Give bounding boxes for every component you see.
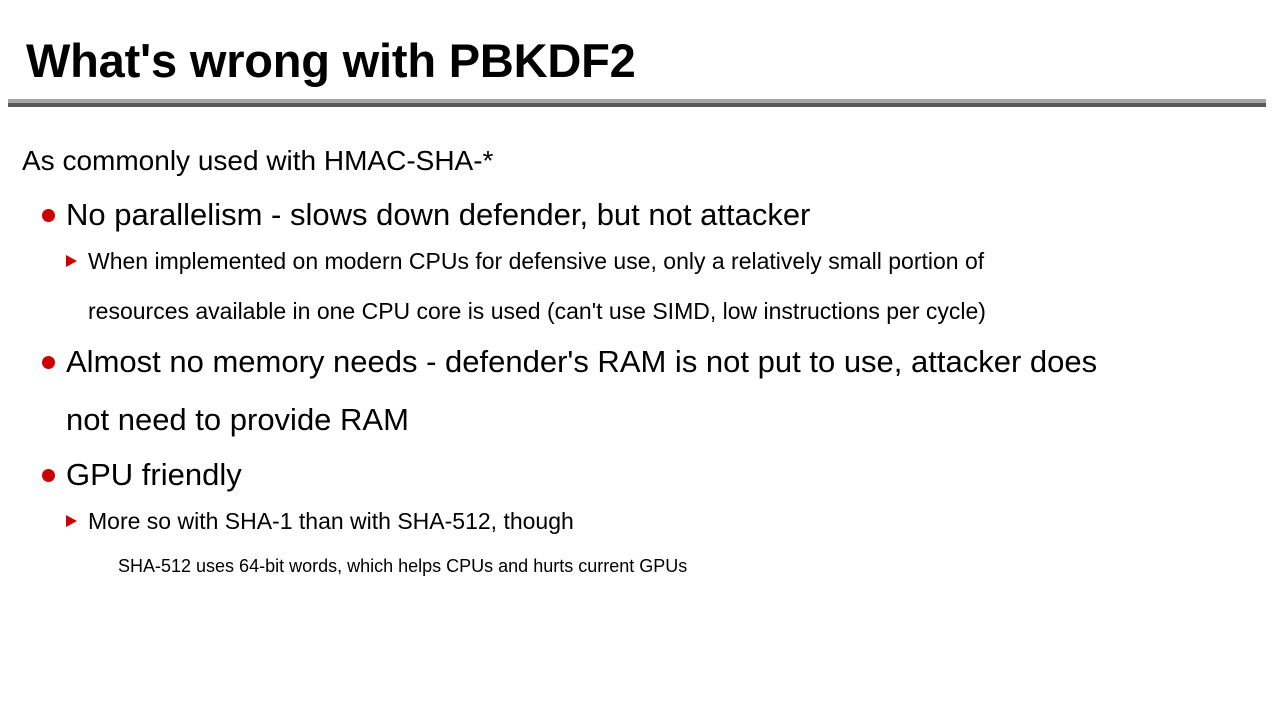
disc-bullet-icon [42,356,55,369]
sub-bullet-cpu-resources-line1: When implemented on modern CPUs for defe… [88,248,984,274]
title-divider [8,99,1266,107]
slide-title-area: What's wrong with PBKDF2 [0,0,1280,112]
bullet-memory-needs-line1: Almost no memory needs - defender's RAM … [66,344,1097,379]
bullet-level1-intro-text: As commonly used with HMAC-SHA-* [22,145,493,176]
bullet-no-parallelism-text: No parallelism - slows down defender, bu… [66,197,810,232]
sub-bullet-sha-comparison-text: More so with SHA-1 than with SHA-512, th… [88,508,574,534]
presentation-slide: What's wrong with PBKDF2 As commonly use… [0,0,1280,720]
disc-bullet-icon [42,209,55,222]
triangle-bullet-icon [66,255,77,267]
triangle-bullet-icon [66,515,77,527]
bullet-memory-needs: Almost no memory needs - defender's RAM … [42,344,1280,438]
sub-bullet-cpu-resources: When implemented on modern CPUs for defe… [66,247,1280,325]
bullet-gpu-friendly: GPU friendly [42,457,1280,493]
bullet-memory-needs-line2: not need to provide RAM [66,402,1280,438]
page-title: What's wrong with PBKDF2 [26,36,636,85]
disc-bullet-icon [42,469,55,482]
bullet-no-parallelism: No parallelism - slows down defender, bu… [42,197,1280,233]
bullet-gpu-friendly-text: GPU friendly [66,457,242,492]
bullet-level1-intro: As commonly used with HMAC-SHA-* [22,144,1280,178]
note-sha512-words: SHA-512 uses 64-bit words, which helps C… [118,555,1280,577]
slide-body: As commonly used with HMAC-SHA-* No para… [0,112,1280,577]
sub-bullet-sha-comparison: More so with SHA-1 than with SHA-512, th… [66,507,1280,535]
note-sha512-words-text: SHA-512 uses 64-bit words, which helps C… [118,556,687,576]
divider-bottom-band [8,103,1266,107]
sub-bullet-cpu-resources-line2: resources available in one CPU core is u… [88,297,1280,325]
